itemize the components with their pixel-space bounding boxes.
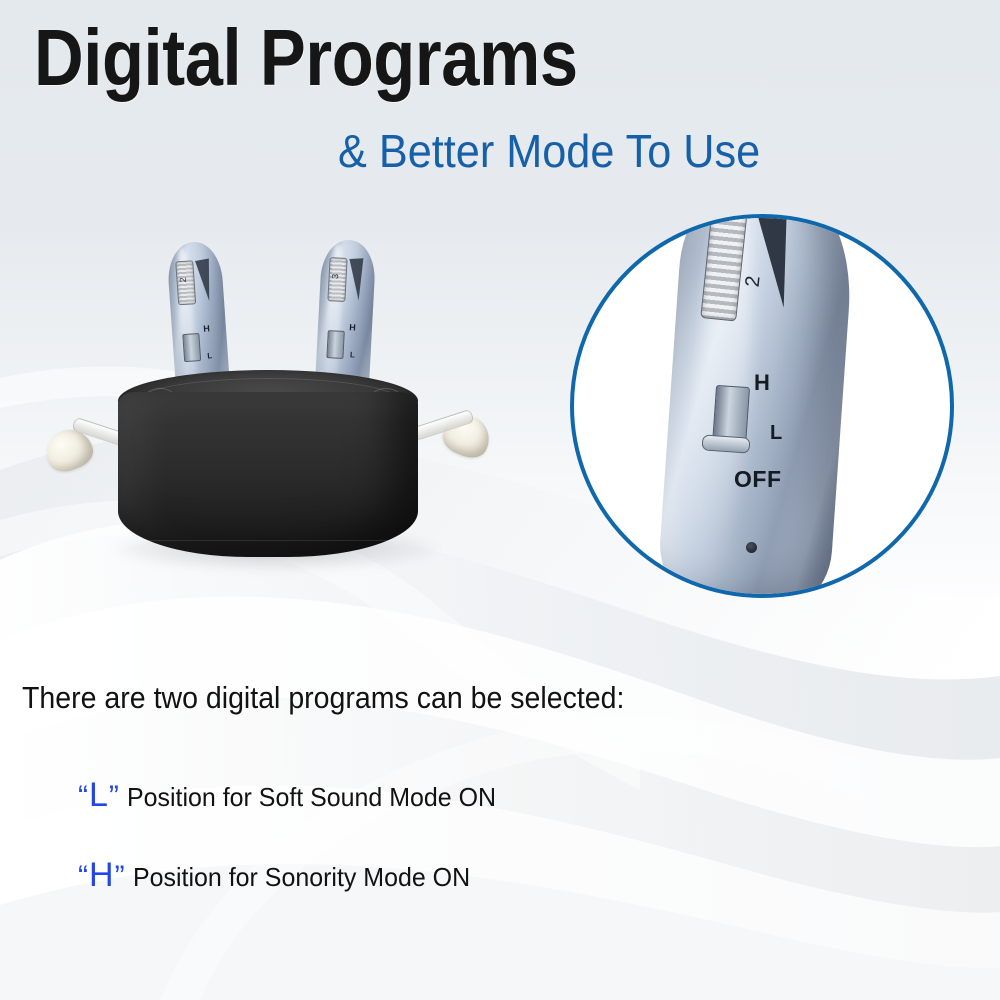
page-title: Digital Programs [34,18,578,98]
program-wheel-right: 3 [327,257,347,302]
program-text-l: Position for Soft Sound Mode ON [127,784,496,810]
program-wheel-left: 2 [175,260,196,305]
program-key-l: “L” [78,776,120,814]
mode-label-h-right: H [349,322,356,332]
zoom-detail-circle: 2 H L OFF [570,214,954,598]
program-wheel-right-value: 3 [330,273,340,279]
program-item-l: “L” Position for Soft Sound Mode ON [78,778,512,812]
callout-mode-label-h: H [754,370,770,396]
hearing-aid-right-vent [349,258,365,301]
program-key-h: “H” [78,856,126,894]
quote-open-h: “ [78,860,89,893]
callout-mode-switch-nub [702,434,751,453]
mode-label-l-left: L [207,351,213,360]
program-key-l-letter: L [89,776,109,814]
instruction-lead: There are two digital programs can be se… [22,682,624,713]
mode-label-h-left: H [203,324,210,334]
callout-mode-label-off: OFF [734,466,782,493]
program-key-h-letter: H [89,856,115,894]
program-wheel-left-value: 2 [177,277,187,283]
quote-open-l: “ [78,780,89,813]
mode-switch-left [182,333,201,362]
quote-close-l: ” [109,780,120,813]
promo-banner: Digital Programs & Better Mode To Use 2 … [0,0,1000,1000]
charging-dock-body [118,392,418,557]
mode-switch-right [326,330,344,359]
callout-program-wheel-value: 2 [742,275,766,288]
page-subtitle: & Better Mode To Use [338,128,760,174]
callout-hearing-aid-body [655,214,857,598]
callout-microphone-port [746,542,757,553]
callout-mode-label-l: L [770,422,782,445]
program-text-h: Position for Sonority Mode ON [133,864,470,890]
program-item-h: “H” Position for Sonority Mode ON [78,858,484,892]
quote-close-h: ” [115,860,126,893]
mode-label-l-right: L [350,351,355,360]
product-photo: 2 H L OFF 3 H L OFF [20,230,540,580]
